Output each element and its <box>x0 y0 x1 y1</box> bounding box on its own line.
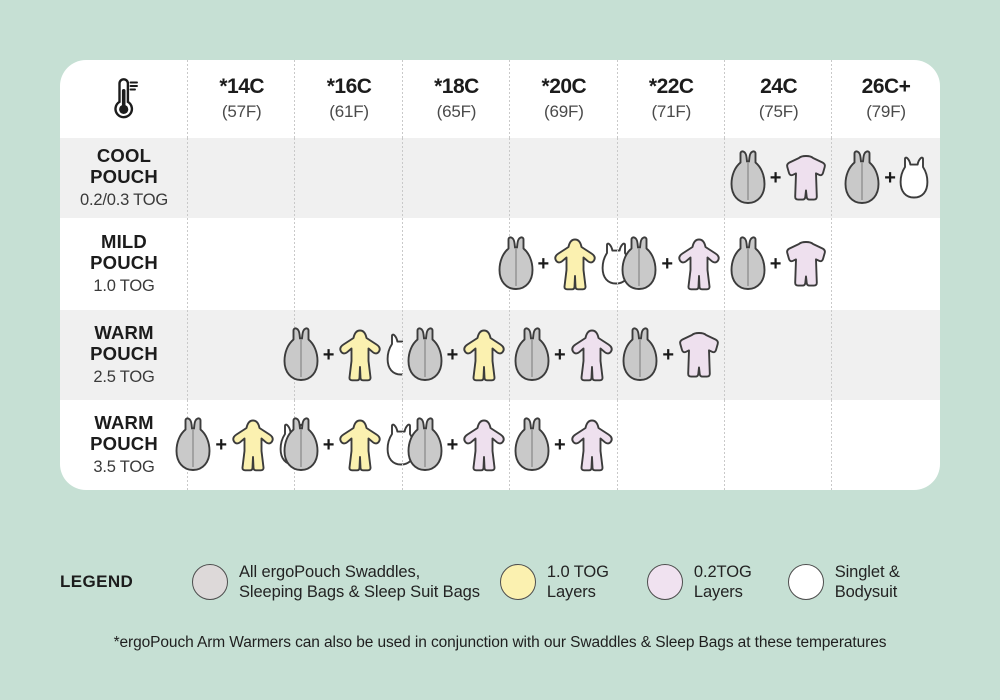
header-col-16c: *16C(61F) <box>295 60 402 138</box>
cell-r2-c0[interactable] <box>188 310 295 400</box>
legend-title: LEGEND <box>60 572 192 592</box>
header-celsius: *22C <box>649 76 694 98</box>
cell-r1-c1[interactable] <box>295 218 402 310</box>
sleeping-bag-icon <box>496 236 536 292</box>
plus-sign: + <box>770 254 782 274</box>
sleeping-bag-icon <box>512 417 552 473</box>
row-name: WARMPOUCH <box>90 323 158 364</box>
row-label-2: WARMPOUCH2.5 TOG <box>60 310 188 400</box>
cell-r2-c6[interactable] <box>832 310 939 400</box>
cell-r1-c0[interactable] <box>188 218 295 310</box>
row-tog: 3.5 TOG <box>93 458 154 477</box>
plus-sign: + <box>554 435 566 455</box>
header-celsius: *20C <box>542 76 587 98</box>
footnote-text: *ergoPouch Arm Warmers can also be used … <box>0 634 1000 652</box>
cell-r1-c6[interactable] <box>832 218 939 310</box>
legend-swatch-lilac-circle <box>647 564 683 600</box>
row-name: WARMPOUCH <box>90 413 158 454</box>
header-col-22c: *22C(71F) <box>618 60 725 138</box>
cell-r1-c3[interactable]: + <box>510 218 617 310</box>
legend: LEGEND All ergoPouch Swaddles, Sleeping … <box>60 552 940 612</box>
garment-combo: + <box>512 417 616 473</box>
cell-r3-c5[interactable] <box>725 400 832 490</box>
cell-r3-c3[interactable]: + <box>510 400 617 490</box>
cell-r1-c5[interactable]: + <box>725 218 832 310</box>
cell-r1-c4[interactable]: + <box>618 218 725 310</box>
tog-guide-grid: *14C(57F)*16C(61F)*18C(65F)*20C(69F)*22C… <box>60 60 940 490</box>
tog-guide-table-card: *14C(57F)*16C(61F)*18C(65F)*20C(69F)*22C… <box>60 60 940 490</box>
sleeping-bag-icon <box>620 327 660 383</box>
legend-item-02tog: 0.2TOG Layers <box>647 562 752 603</box>
header-fahrenheit: (69F) <box>544 102 584 122</box>
garment-combo: + <box>496 236 633 292</box>
cell-r3-c0[interactable]: + <box>188 400 295 490</box>
legend-swatch-white-circle <box>788 564 824 600</box>
header-celsius: 24C <box>760 76 797 98</box>
plus-sign: + <box>538 254 550 274</box>
short-sleeve-romper-icon <box>783 240 829 288</box>
thermometer-icon <box>109 77 139 121</box>
plus-sign: + <box>215 435 227 455</box>
sleeping-bag-icon <box>405 417 445 473</box>
cell-r0-c5[interactable]: + <box>725 138 832 218</box>
sleeping-bag-icon <box>281 327 321 383</box>
header-fahrenheit: (71F) <box>651 102 691 122</box>
long-sleeve-onesie-icon <box>551 237 599 291</box>
cell-r3-c1[interactable]: + <box>295 400 402 490</box>
cell-r1-c2[interactable] <box>403 218 510 310</box>
short-sleeve-romper-icon <box>783 154 829 202</box>
header-fahrenheit: (61F) <box>329 102 369 122</box>
garment-combo: + <box>728 236 830 292</box>
plus-sign: + <box>554 345 566 365</box>
header-celsius: *18C <box>434 76 479 98</box>
header-col-24c: 24C(75F) <box>725 60 832 138</box>
cell-r0-c6[interactable]: + <box>832 138 939 218</box>
cell-r0-c3[interactable] <box>510 138 617 218</box>
sleeping-bag-icon <box>405 327 445 383</box>
legend-item-1tog: 1.0 TOG Layers <box>500 562 609 603</box>
cell-r0-c2[interactable] <box>403 138 510 218</box>
cell-r3-c4[interactable] <box>618 400 725 490</box>
garment-combo: + <box>281 327 418 383</box>
temperature-guide-page: *14C(57F)*16C(61F)*18C(65F)*20C(69F)*22C… <box>0 0 1000 700</box>
header-fahrenheit: (75F) <box>759 102 799 122</box>
row-label-3: WARMPOUCH3.5 TOG <box>60 400 188 490</box>
plus-sign: + <box>323 435 335 455</box>
header-col-20c: *20C(69F) <box>510 60 617 138</box>
row-name: COOLPOUCH <box>90 146 158 187</box>
cell-r2-c5[interactable] <box>725 310 832 400</box>
row-tog: 2.5 TOG <box>93 368 154 387</box>
garment-combo: + <box>512 327 616 383</box>
header-col-18c: *18C(65F) <box>403 60 510 138</box>
cell-r0-c4[interactable] <box>618 138 725 218</box>
sleeping-bag-icon <box>842 150 882 206</box>
legend-label-swaddles: All ergoPouch Swaddles, Sleeping Bags & … <box>239 562 480 603</box>
cell-r2-c1[interactable]: + <box>295 310 402 400</box>
sleeping-bag-icon <box>281 417 321 473</box>
legend-item-swaddles: All ergoPouch Swaddles, Sleeping Bags & … <box>192 562 480 603</box>
legend-swatch-yellow-circle <box>500 564 536 600</box>
legend-item-singlet: Singlet & Bodysuit <box>788 562 900 603</box>
header-fahrenheit: (79F) <box>866 102 906 122</box>
row-name: MILDPOUCH <box>90 232 158 273</box>
sleeping-bag-icon <box>173 417 213 473</box>
plus-sign: + <box>662 345 674 365</box>
header-celsius: *14C <box>219 76 264 98</box>
plus-sign: + <box>770 168 782 188</box>
long-sleeve-onesie-icon <box>336 418 384 472</box>
row-tog: 1.0 TOG <box>93 277 154 296</box>
long-sleeve-onesie-icon <box>336 328 384 382</box>
sleeping-bag-icon <box>728 150 768 206</box>
long-sleeve-onesie-icon <box>460 418 508 472</box>
long-sleeve-onesie-icon <box>568 418 616 472</box>
long-sleeve-onesie-icon <box>568 328 616 382</box>
header-fahrenheit: (65F) <box>437 102 477 122</box>
row-label-1: MILDPOUCH1.0 TOG <box>60 218 188 310</box>
long-sleeve-onesie-icon <box>460 328 508 382</box>
garment-combo: + <box>405 417 509 473</box>
singlet-bodysuit-icon <box>898 156 930 200</box>
sleeping-bag-icon <box>619 236 659 292</box>
header-corner-thermometer <box>60 60 188 138</box>
garment-combo: + <box>842 150 930 206</box>
plus-sign: + <box>661 254 673 274</box>
cell-r2-c3[interactable]: + <box>510 310 617 400</box>
legend-label-singlet: Singlet & Bodysuit <box>835 562 900 603</box>
legend-label-02tog: 0.2TOG Layers <box>694 562 752 603</box>
header-col-14c: *14C(57F) <box>188 60 295 138</box>
sleeping-bag-icon <box>728 236 768 292</box>
row-tog: 0.2/0.3 TOG <box>80 191 168 210</box>
cell-r3-c2[interactable]: + <box>403 400 510 490</box>
garment-combo: + <box>281 417 418 473</box>
short-sleeve-romper-icon <box>676 331 722 379</box>
garment-combo: + <box>728 150 830 206</box>
plus-sign: + <box>447 435 459 455</box>
legend-swatch-grey-circle <box>192 564 228 600</box>
plus-sign: + <box>447 345 459 365</box>
garment-combo: + <box>620 327 722 383</box>
header-col-26c+: 26C+(79F) <box>832 60 939 138</box>
cell-r3-c6[interactable] <box>832 400 939 490</box>
plus-sign: + <box>884 168 896 188</box>
garment-combo: + <box>405 327 509 383</box>
long-sleeve-onesie-icon <box>229 418 277 472</box>
header-fahrenheit: (57F) <box>222 102 262 122</box>
cell-r2-c4[interactable]: + <box>618 310 725 400</box>
plus-sign: + <box>323 345 335 365</box>
sleeping-bag-icon <box>512 327 552 383</box>
header-celsius: 26C+ <box>862 76 911 98</box>
garment-combo: + <box>619 236 723 292</box>
cell-r2-c2[interactable]: + <box>403 310 510 400</box>
cell-r0-c0[interactable] <box>188 138 295 218</box>
long-sleeve-onesie-icon <box>675 237 723 291</box>
legend-label-1tog: 1.0 TOG Layers <box>547 562 609 603</box>
cell-r0-c1[interactable] <box>295 138 402 218</box>
header-celsius: *16C <box>327 76 372 98</box>
row-label-0: COOLPOUCH0.2/0.3 TOG <box>60 138 188 218</box>
